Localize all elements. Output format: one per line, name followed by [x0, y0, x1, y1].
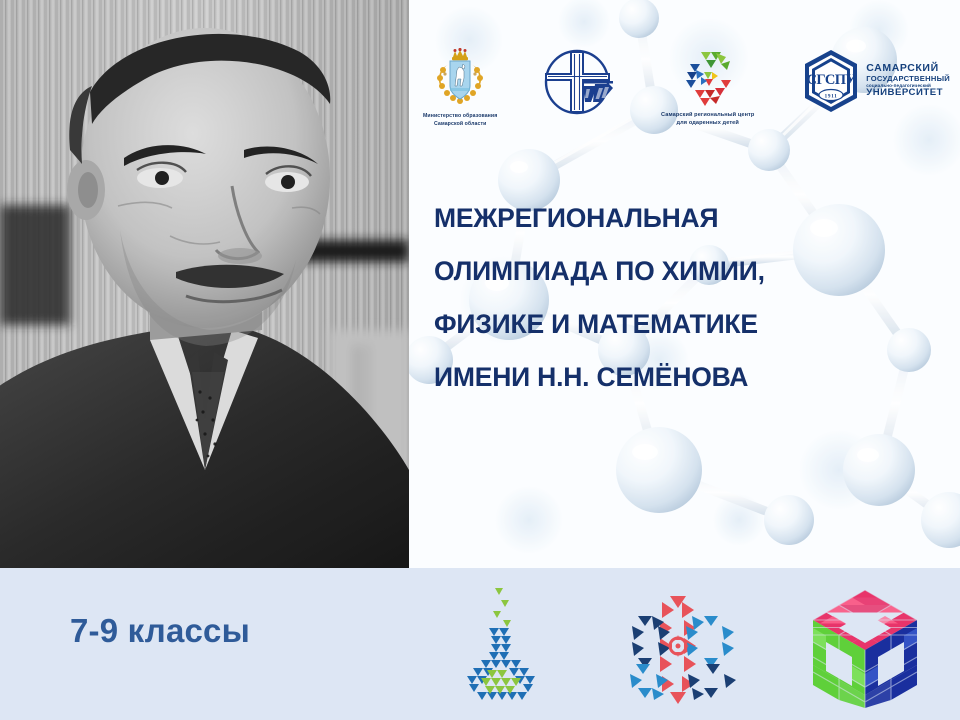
title-line-3: ФИЗИКЕ И МАТЕМАТИКЕ: [434, 311, 960, 338]
portrait-photo-image: [0, 0, 409, 568]
poster-root: Министерство образования Самарской облас…: [0, 0, 960, 720]
sgspu-badge-text: СГСПУ: [807, 72, 857, 88]
sgspu-hexagon-badge-icon: СГСПУ 1911: [800, 48, 862, 114]
sgspu-name-line2: ГОСУДАРСТВЕННЫЙ: [866, 75, 950, 84]
subject-icons-row: [410, 572, 960, 718]
logo-ministry-of-education-samara: Министерство образования Самарской облас…: [423, 48, 497, 129]
sgspu-name-block: САМАРСКИЙ ГОСУДАРСТВЕННЫЙ социально-педа…: [866, 63, 950, 99]
math-cube-icon: [803, 580, 928, 710]
title-line-1: МЕЖРЕГИОНАЛЬНАЯ: [434, 205, 960, 232]
logo-iro-institute: [543, 48, 615, 121]
hexagon-mosaic-s-icon: [677, 48, 739, 108]
poster-title: МЕЖРЕГИОНАЛЬНАЯ ОЛИМПИАДА ПО ХИМИИ, ФИЗИ…: [409, 205, 960, 391]
portrait-photo: [0, 0, 409, 568]
logo-caption-regional-center: Самарский региональный центр для одаренн…: [661, 111, 754, 128]
logo-caption-ministry: Министерство образования Самарской облас…: [423, 113, 497, 129]
chemistry-flask-icon: [443, 580, 553, 710]
logo-sgspu-university: СГСПУ 1911 САМАРСКИЙ ГОСУДАРСТВЕННЫЙ соц…: [800, 48, 950, 114]
circular-cross-emblem-icon: [543, 48, 615, 118]
logo-regional-center-gifted-children: Самарский региональный центр для одаренн…: [661, 48, 754, 128]
sgspu-badge-year: 1911: [825, 94, 838, 100]
sgspu-name-line4: УНИВЕРСИТЕТ: [866, 88, 950, 99]
title-line-2: ОЛИМПИАДА ПО ХИМИИ,: [434, 258, 960, 285]
samara-coat-of-arms-icon: [433, 48, 487, 110]
sgspu-name-line1: САМАРСКИЙ: [866, 63, 950, 75]
title-line-4: ИМЕНИ Н.Н. СЕМЁНОВА: [434, 364, 960, 391]
partner-logos-row: Министерство образования Самарской облас…: [409, 48, 960, 148]
grade-range-label: 7-9 классы: [70, 612, 250, 650]
physics-atom-icon: [618, 580, 738, 710]
